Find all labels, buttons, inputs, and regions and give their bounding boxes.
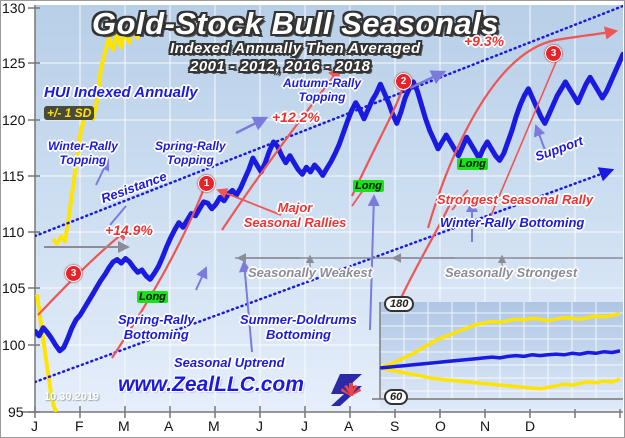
x-tick-feb: F <box>75 418 84 434</box>
autumn-rally-topping-label: Autumn-Rally Topping <box>283 76 361 104</box>
strongest-seasonal-rally-label: Strongest Seasonal Rally <box>437 192 593 207</box>
x-tick-dec: D <box>525 418 535 434</box>
x-tick-oct: O <box>435 418 446 434</box>
x-tick-aug: A <box>344 418 353 434</box>
marker-badge-3b: 3 <box>545 45 562 62</box>
sd-band-label: +/- 1 SD <box>44 106 94 120</box>
spring-rally-bottoming-label: Spring-Rally Bottoming <box>118 312 195 342</box>
x-tick-jan: J <box>31 418 38 434</box>
long-badge-3: Long <box>457 158 488 170</box>
major-seasonal-rallies-label: Major Seasonal Rallies <box>244 200 347 230</box>
y-tick-105: 105 <box>2 280 25 296</box>
gain-label-1: +14.9% <box>105 222 153 238</box>
spring-rally-topping-label: Spring-Rally Topping <box>155 139 226 167</box>
y-tick-95: 95 <box>8 404 24 420</box>
gain-label-3: +9.3% <box>464 33 504 49</box>
y-tick-115: 115 <box>2 168 24 184</box>
winter-rally-bottoming-label: Winter-Rally Bottoming <box>440 215 584 230</box>
x-tick-sep: S <box>390 418 399 434</box>
chart-screenshot: 130 125 120 115 110 105 100 95 J F M A M… <box>0 0 625 438</box>
winter-rally-topping-label: Winter-Rally Topping <box>48 139 118 167</box>
marker-badge-2: 2 <box>395 73 412 90</box>
seasonally-strongest-label: Seasonally Strongest <box>445 265 577 280</box>
y-tick-130: 130 <box>2 0 25 16</box>
chart-subtitle-2: 2001 - 2012, 2016 - 2018 <box>190 58 370 75</box>
website-url[interactable]: www.ZealLLC.com <box>118 373 304 397</box>
series-label: HUI Indexed Annually <box>44 84 198 101</box>
y-tick-110: 110 <box>2 224 24 240</box>
x-tick-nov: N <box>480 418 490 434</box>
marker-badge-1: 1 <box>198 175 215 192</box>
date-stamp: 10.30.2019 <box>44 391 99 403</box>
inset-bottom-label: 60 <box>384 389 408 405</box>
seasonal-uptrend-label: Seasonal Uptrend <box>174 355 285 370</box>
gain-label-2: +12.2% <box>272 109 320 125</box>
chart-title: Gold-Stock Bull Seasonals <box>92 6 499 42</box>
marker-badge-3a: 3 <box>65 265 82 282</box>
long-badge-2: Long <box>353 180 384 192</box>
x-tick-apr: A <box>164 418 173 434</box>
seasonally-weakest-label: Seasonally Weakest <box>248 265 372 280</box>
x-tick-jun: J <box>256 418 263 434</box>
y-tick-120: 120 <box>2 112 25 128</box>
y-tick-100: 100 <box>2 337 25 353</box>
long-badge-1: Long <box>137 291 168 303</box>
y-tick-125: 125 <box>2 55 25 71</box>
summer-doldrums-bottoming-label: Summer-Doldrums Bottoming <box>240 312 357 342</box>
chart-subtitle-1: Indexed Annually Then Averaged <box>170 40 421 57</box>
x-tick-jul: J <box>301 418 308 434</box>
inset-top-label: 180 <box>384 296 414 312</box>
x-tick-mar: M <box>118 418 130 434</box>
x-tick-may: M <box>208 418 220 434</box>
